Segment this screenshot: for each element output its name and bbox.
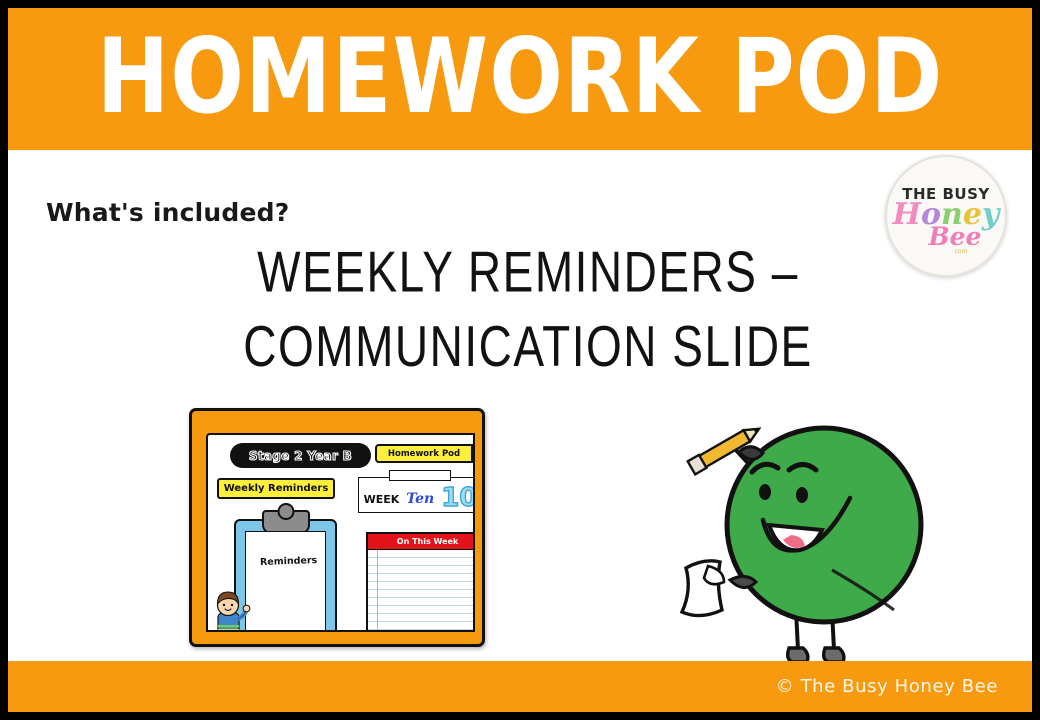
week-name: Ten bbox=[406, 491, 434, 509]
footer-banner: © The Busy Honey Bee bbox=[8, 661, 1032, 712]
logo-sub-text: com bbox=[955, 248, 968, 255]
footer-copyright: © The Busy Honey Bee bbox=[776, 676, 998, 697]
week-number: 10 bbox=[441, 487, 475, 509]
weekly-reminders-banner-label: Weekly Reminders bbox=[224, 483, 329, 494]
clipboard-label: Reminders bbox=[260, 555, 318, 568]
stage-pill-label: Stage 2 Year B bbox=[249, 449, 352, 463]
homework-pod-badge: Homework Pod bbox=[375, 444, 473, 463]
homework-pod-badge-label: Homework Pod bbox=[388, 449, 460, 459]
week-box: WEEK Ten 10 bbox=[358, 477, 475, 513]
on-this-week-table: On This Week bbox=[366, 532, 475, 632]
slide-canvas: Homework Pod What's included? Weekly Rem… bbox=[0, 0, 1040, 720]
logo-word-bee: Bee bbox=[929, 224, 982, 249]
the-busy-honey-bee-logo: THE BUSY Honey Bee com bbox=[885, 155, 1007, 277]
week-box-row: WEEK Ten 10 bbox=[359, 487, 475, 509]
on-this-week-lined-body bbox=[368, 550, 475, 632]
green-pod-character-illustration bbox=[646, 400, 936, 675]
main-heading: Weekly Reminders – Communication Slide bbox=[128, 235, 928, 383]
slide-preview-thumbnail[interactable]: Stage 2 Year B Homework Pod Weekly Remin… bbox=[189, 408, 485, 647]
weekly-reminders-banner: Weekly Reminders bbox=[217, 478, 335, 499]
clipboard-paper: Reminders bbox=[245, 531, 326, 632]
main-heading-line-1: Weekly Reminders – bbox=[128, 235, 928, 309]
week-box-tab bbox=[389, 470, 451, 481]
on-this-week-margin-line bbox=[377, 550, 378, 632]
header-banner: Homework Pod bbox=[8, 8, 1032, 150]
body-area: What's included? Weekly Reminders – Comm… bbox=[8, 150, 1032, 661]
on-this-week-header-label: On This Week bbox=[397, 537, 458, 546]
week-label: WEEK bbox=[364, 493, 400, 509]
page-title: Homework Pod bbox=[97, 25, 944, 134]
main-heading-line-2: Communication Slide bbox=[128, 309, 928, 383]
on-this-week-header: On This Week bbox=[368, 534, 475, 550]
thumbnail-inner-page: Stage 2 Year B Homework Pod Weekly Remin… bbox=[206, 433, 475, 632]
stage-pill: Stage 2 Year B bbox=[230, 443, 371, 468]
whats-included-label: What's included? bbox=[46, 198, 289, 227]
boy-character-illustration bbox=[211, 585, 253, 632]
